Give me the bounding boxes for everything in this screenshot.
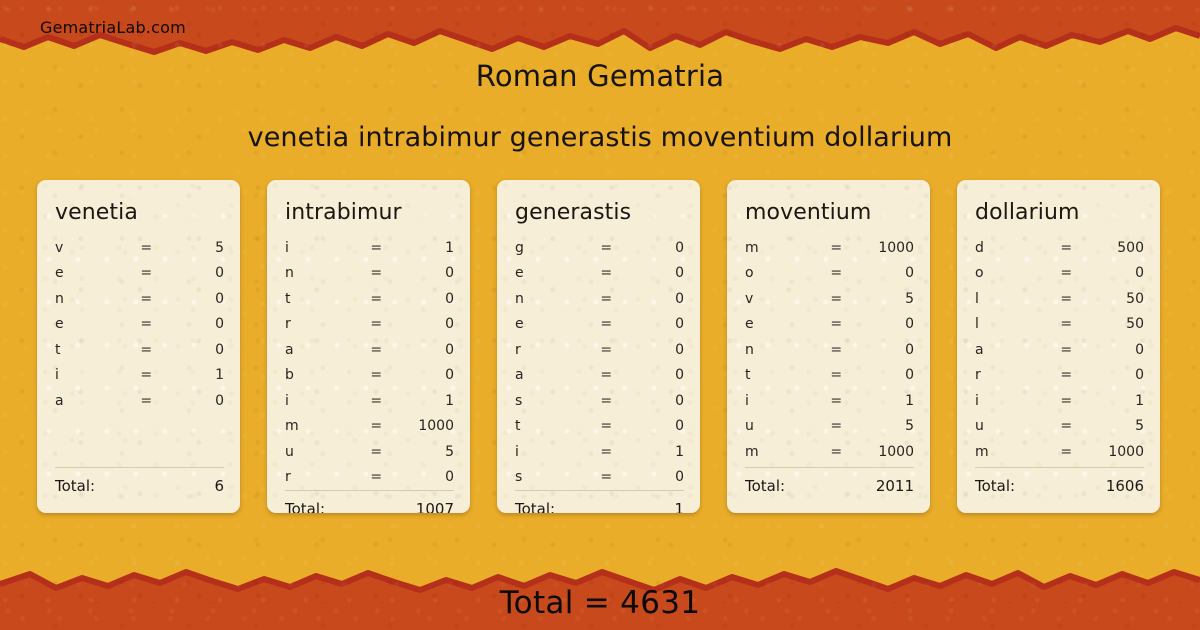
letter-value: 0 <box>853 265 914 281</box>
card-divider <box>515 490 684 491</box>
letter-row: u = 5 <box>745 414 914 440</box>
letter-value: 0 <box>163 265 224 281</box>
card-footer: Total: 6 <box>37 467 240 513</box>
equals-sign: = <box>819 342 853 358</box>
equals-sign: = <box>1049 240 1083 256</box>
letter-row: s = 0 <box>515 388 684 414</box>
letter-label: m <box>285 418 359 434</box>
word-card: generastis g = 0 e = 0 n = 0 e = 0 r = 0… <box>497 180 700 513</box>
equals-sign: = <box>359 418 393 434</box>
letter-row: o = 0 <box>975 261 1144 287</box>
letter-value: 1 <box>163 367 224 383</box>
letter-value: 0 <box>393 316 454 332</box>
letter-rows: v = 5 e = 0 n = 0 e = 0 t = 0 i = 1 <box>37 225 240 467</box>
equals-sign: = <box>1049 393 1083 409</box>
letter-value: 0 <box>623 265 684 281</box>
total-value: 2011 <box>876 477 914 495</box>
letter-value: 0 <box>623 342 684 358</box>
letter-label: t <box>285 291 359 307</box>
equals-sign: = <box>1049 342 1083 358</box>
letter-label: d <box>975 240 1049 256</box>
letter-row: e = 0 <box>515 261 684 287</box>
letter-label: i <box>515 444 589 460</box>
total-value: 1007 <box>416 500 454 513</box>
letter-label: t <box>55 342 129 358</box>
letter-value: 0 <box>393 291 454 307</box>
equals-sign: = <box>359 291 393 307</box>
card-total-row: Total: 6 <box>55 477 224 513</box>
letter-row: o = 0 <box>745 261 914 287</box>
letter-row: n = 0 <box>745 337 914 363</box>
card-divider <box>745 467 914 468</box>
letter-rows: d = 500 o = 0 l = 50 l = 50 a = 0 r = 0 <box>957 225 1160 467</box>
letter-value: 0 <box>163 316 224 332</box>
letter-label: m <box>745 444 819 460</box>
letter-label: s <box>515 393 589 409</box>
card-divider <box>55 467 224 468</box>
letter-label: o <box>745 265 819 281</box>
letter-row: r = 0 <box>515 337 684 363</box>
equals-sign: = <box>589 316 623 332</box>
equals-sign: = <box>1049 367 1083 383</box>
letter-row: m = 1000 <box>745 439 914 465</box>
card-total-row: Total: 1007 <box>285 500 454 513</box>
equals-sign: = <box>819 316 853 332</box>
letter-value: 0 <box>623 418 684 434</box>
letter-row: d = 500 <box>975 235 1144 261</box>
letter-value: 0 <box>393 469 454 485</box>
equals-sign: = <box>129 393 163 409</box>
equals-sign: = <box>359 316 393 332</box>
letter-label: r <box>975 367 1049 383</box>
letter-label: u <box>745 418 819 434</box>
letter-rows: m = 1000 o = 0 v = 5 e = 0 n = 0 t = 0 <box>727 225 930 467</box>
site-watermark: GematriaLab.com <box>40 18 186 37</box>
letter-value: 1 <box>393 393 454 409</box>
letter-value: 0 <box>163 291 224 307</box>
letter-label: i <box>975 393 1049 409</box>
letter-value: 500 <box>1083 240 1144 256</box>
letter-label: i <box>745 393 819 409</box>
letter-label: e <box>515 316 589 332</box>
letter-value: 0 <box>623 367 684 383</box>
letter-row: a = 0 <box>285 337 454 363</box>
letter-row: n = 0 <box>55 286 224 312</box>
letter-value: 5 <box>393 444 454 460</box>
equals-sign: = <box>359 367 393 383</box>
letter-label: o <box>975 265 1049 281</box>
letter-row: i = 1 <box>975 388 1144 414</box>
equals-sign: = <box>589 291 623 307</box>
page-title: Roman Gematria <box>0 52 1200 93</box>
letter-row: i = 1 <box>515 439 684 465</box>
letter-label: n <box>745 342 819 358</box>
card-word: venetia <box>37 180 240 225</box>
equals-sign: = <box>359 342 393 358</box>
equals-sign: = <box>359 444 393 460</box>
equals-sign: = <box>129 240 163 256</box>
letter-row: v = 5 <box>745 286 914 312</box>
letter-row: u = 5 <box>975 414 1144 440</box>
letter-row: l = 50 <box>975 286 1144 312</box>
letter-row: n = 0 <box>515 286 684 312</box>
total-label: Total: <box>285 500 325 513</box>
letter-row: m = 1000 <box>285 414 454 440</box>
card-word: intrabimur <box>267 180 470 225</box>
equals-sign: = <box>819 367 853 383</box>
equals-sign: = <box>589 265 623 281</box>
letter-value: 0 <box>393 265 454 281</box>
equals-sign: = <box>1049 291 1083 307</box>
letter-label: r <box>285 316 359 332</box>
letter-value: 0 <box>1083 367 1144 383</box>
total-value: 1606 <box>1106 477 1144 495</box>
letter-value: 1000 <box>853 444 914 460</box>
letter-value: 0 <box>623 240 684 256</box>
equals-sign: = <box>129 265 163 281</box>
word-card-list: venetia v = 5 e = 0 n = 0 e = 0 t = 0 i <box>37 180 1163 513</box>
equals-sign: = <box>819 265 853 281</box>
letter-value: 0 <box>1083 265 1144 281</box>
letter-row: e = 0 <box>55 312 224 338</box>
letter-label: u <box>285 444 359 460</box>
letter-row: t = 0 <box>515 414 684 440</box>
letter-row: i = 1 <box>55 363 224 389</box>
letter-row: v = 5 <box>55 235 224 261</box>
letter-label: e <box>515 265 589 281</box>
letter-row: e = 0 <box>745 312 914 338</box>
letter-value: 50 <box>1083 316 1144 332</box>
letter-value: 1000 <box>853 240 914 256</box>
letter-label: a <box>975 342 1049 358</box>
letter-value: 5 <box>163 240 224 256</box>
equals-sign: = <box>129 316 163 332</box>
letter-label: m <box>975 444 1049 460</box>
letter-value: 0 <box>393 342 454 358</box>
letter-row: t = 0 <box>55 337 224 363</box>
letter-value: 1000 <box>393 418 454 434</box>
letter-row: l = 50 <box>975 312 1144 338</box>
letter-value: 5 <box>853 291 914 307</box>
letter-label: e <box>55 265 129 281</box>
equals-sign: = <box>819 418 853 434</box>
equals-sign: = <box>129 291 163 307</box>
letter-label: n <box>515 291 589 307</box>
equals-sign: = <box>129 342 163 358</box>
letter-label: m <box>745 240 819 256</box>
equals-sign: = <box>1049 265 1083 281</box>
letter-row: i = 1 <box>285 235 454 261</box>
letter-row: b = 0 <box>285 363 454 389</box>
letter-label: e <box>55 316 129 332</box>
word-card: intrabimur i = 1 n = 0 t = 0 r = 0 a = 0… <box>267 180 470 513</box>
word-card: venetia v = 5 e = 0 n = 0 e = 0 t = 0 i <box>37 180 240 513</box>
letter-label: t <box>515 418 589 434</box>
letter-value: 0 <box>393 367 454 383</box>
card-total-row: Total: 1606 <box>975 477 1144 513</box>
equals-sign: = <box>359 393 393 409</box>
equals-sign: = <box>589 418 623 434</box>
card-word: dollarium <box>957 180 1160 225</box>
equals-sign: = <box>589 342 623 358</box>
letter-label: a <box>285 342 359 358</box>
letter-row: s = 0 <box>515 465 684 491</box>
total-label: Total: <box>745 477 785 495</box>
letter-row: r = 0 <box>975 363 1144 389</box>
letter-label: b <box>285 367 359 383</box>
letter-row: n = 0 <box>285 261 454 287</box>
card-divider <box>285 490 454 491</box>
equals-sign: = <box>819 393 853 409</box>
letter-row: r = 0 <box>285 312 454 338</box>
card-divider <box>975 467 1144 468</box>
letter-row: a = 0 <box>55 388 224 414</box>
letter-value: 0 <box>163 393 224 409</box>
letter-row: i = 1 <box>285 388 454 414</box>
letter-rows: g = 0 e = 0 n = 0 e = 0 r = 0 a = 0 <box>497 225 700 490</box>
letter-value: 1 <box>853 393 914 409</box>
equals-sign: = <box>819 240 853 256</box>
equals-sign: = <box>1049 418 1083 434</box>
letter-value: 0 <box>1083 342 1144 358</box>
total-label: Total: <box>515 500 555 513</box>
letter-value: 5 <box>853 418 914 434</box>
equals-sign: = <box>819 291 853 307</box>
letter-label: i <box>285 393 359 409</box>
equals-sign: = <box>589 393 623 409</box>
letter-row: a = 0 <box>975 337 1144 363</box>
letter-row: u = 5 <box>285 439 454 465</box>
card-total-row: Total: 2011 <box>745 477 914 513</box>
letter-row: r = 0 <box>285 465 454 491</box>
letter-row: t = 0 <box>285 286 454 312</box>
equals-sign: = <box>589 444 623 460</box>
letter-row: e = 0 <box>515 312 684 338</box>
total-value: 1 <box>674 500 684 513</box>
equals-sign: = <box>359 265 393 281</box>
letter-label: r <box>285 469 359 485</box>
card-footer: Total: 1007 <box>267 490 470 513</box>
letter-value: 50 <box>1083 291 1144 307</box>
letter-label: n <box>285 265 359 281</box>
letter-label: r <box>515 342 589 358</box>
letter-row: m = 1000 <box>975 439 1144 465</box>
equals-sign: = <box>819 444 853 460</box>
letter-label: v <box>55 240 129 256</box>
letter-row: i = 1 <box>745 388 914 414</box>
letter-row: a = 0 <box>515 363 684 389</box>
word-card: dollarium d = 500 o = 0 l = 50 l = 50 a … <box>957 180 1160 513</box>
letter-value: 0 <box>163 342 224 358</box>
letter-label: i <box>55 367 129 383</box>
equals-sign: = <box>589 469 623 485</box>
letter-label: u <box>975 418 1049 434</box>
grand-total: Total = 4631 <box>0 585 1200 621</box>
letter-label: g <box>515 240 589 256</box>
card-total-row: Total: 1 <box>515 500 684 513</box>
total-value: 6 <box>214 477 224 495</box>
letter-label: s <box>515 469 589 485</box>
equals-sign: = <box>589 240 623 256</box>
equals-sign: = <box>359 469 393 485</box>
total-label: Total: <box>55 477 95 495</box>
header: Roman Gematria venetia intrabimur genera… <box>0 52 1200 153</box>
equals-sign: = <box>129 367 163 383</box>
letter-label: e <box>745 316 819 332</box>
card-footer: Total: 1 <box>497 490 700 513</box>
letter-value: 0 <box>853 342 914 358</box>
letter-value: 1 <box>1083 393 1144 409</box>
letter-row: t = 0 <box>745 363 914 389</box>
letter-label: a <box>515 367 589 383</box>
card-word: generastis <box>497 180 700 225</box>
card-word: moventium <box>727 180 930 225</box>
letter-label: l <box>975 316 1049 332</box>
letter-value: 0 <box>623 316 684 332</box>
card-footer: Total: 2011 <box>727 467 930 513</box>
letter-label: l <box>975 291 1049 307</box>
card-footer: Total: 1606 <box>957 467 1160 513</box>
letter-value: 0 <box>623 291 684 307</box>
letter-row: m = 1000 <box>745 235 914 261</box>
letter-value: 1000 <box>1083 444 1144 460</box>
total-label: Total: <box>975 477 1015 495</box>
letter-label: t <box>745 367 819 383</box>
letter-value: 0 <box>623 393 684 409</box>
phrase-heading: venetia intrabimur generastis moventium … <box>0 93 1200 153</box>
letter-label: v <box>745 291 819 307</box>
letter-value: 0 <box>853 367 914 383</box>
letter-value: 1 <box>393 240 454 256</box>
equals-sign: = <box>1049 316 1083 332</box>
letter-label: n <box>55 291 129 307</box>
letter-row: e = 0 <box>55 261 224 287</box>
letter-label: a <box>55 393 129 409</box>
letter-rows: i = 1 n = 0 t = 0 r = 0 a = 0 b = 0 <box>267 225 470 490</box>
equals-sign: = <box>1049 444 1083 460</box>
letter-value: 0 <box>623 469 684 485</box>
equals-sign: = <box>589 367 623 383</box>
letter-value: 0 <box>853 316 914 332</box>
word-card: moventium m = 1000 o = 0 v = 5 e = 0 n =… <box>727 180 930 513</box>
equals-sign: = <box>359 240 393 256</box>
letter-value: 5 <box>1083 418 1144 434</box>
letter-label: i <box>285 240 359 256</box>
letter-value: 1 <box>623 444 684 460</box>
letter-row: g = 0 <box>515 235 684 261</box>
